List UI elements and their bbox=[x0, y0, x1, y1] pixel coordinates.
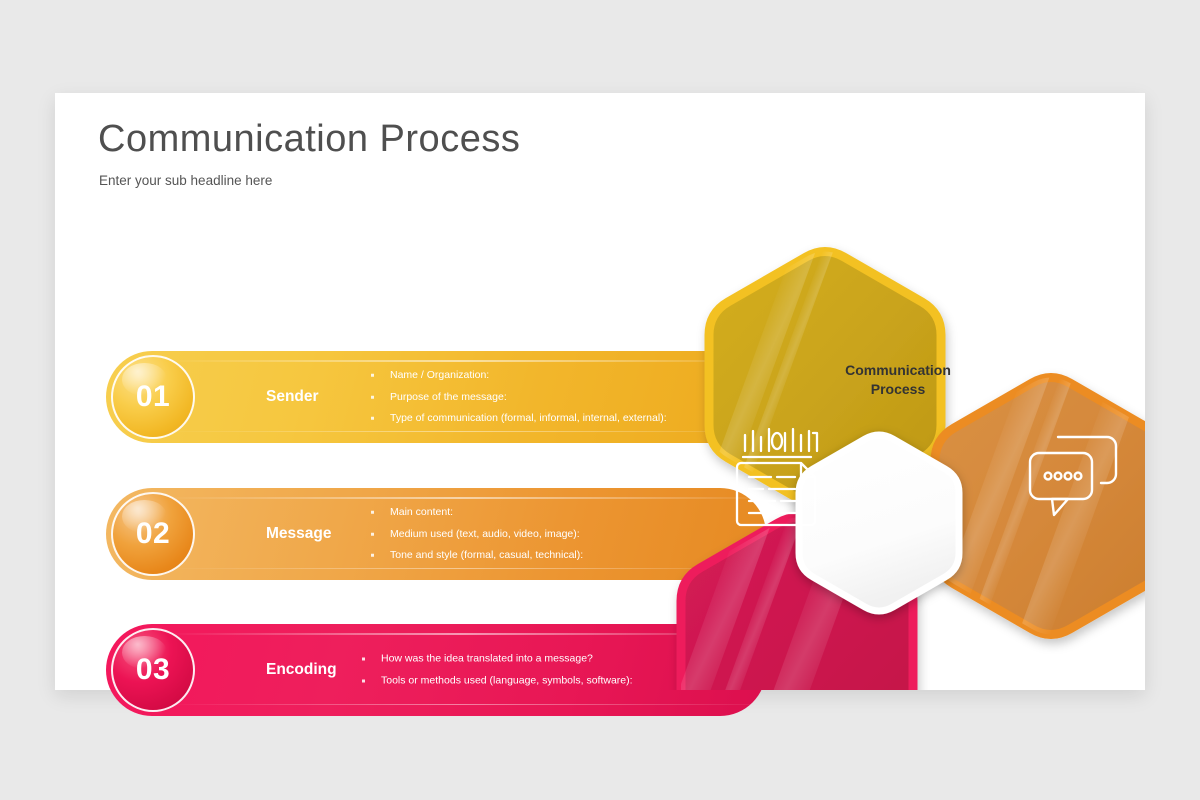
slide-canvas: Communication Process Enter your sub hea… bbox=[55, 93, 1145, 690]
step-number-badge-2[interactable]: 02 bbox=[111, 492, 195, 576]
page-subtitle: Enter your sub headline here bbox=[99, 173, 272, 188]
center-hexagon-label-line2: Process bbox=[823, 380, 973, 399]
laptop-profile-send-icon bbox=[746, 155, 831, 227]
bullet-item: Medium used (text, audio, video, image): bbox=[371, 523, 583, 545]
step-number-badge-1[interactable]: 01 bbox=[111, 355, 195, 439]
step-number-3: 03 bbox=[136, 653, 170, 687]
bullet-item: Purpose of the message: bbox=[371, 386, 667, 408]
bar-highlight-top bbox=[165, 360, 752, 362]
step-bullets-1: Name / Organization: Purpose of the mess… bbox=[371, 365, 667, 430]
bar-highlight-top bbox=[165, 633, 752, 635]
bullet-item: Main content: bbox=[371, 502, 583, 524]
bar-highlight-bottom bbox=[165, 431, 752, 433]
bullet-item: Tone and style (formal, casual, technica… bbox=[371, 545, 583, 567]
page-title: Communication Process bbox=[98, 118, 520, 161]
step-bar-3[interactable]: 03 Encoding How was the idea translated … bbox=[106, 624, 766, 716]
step-label-2: Message bbox=[266, 525, 331, 543]
center-hexagon-label-line1: Communication bbox=[823, 361, 973, 380]
step-label-3: Encoding bbox=[266, 661, 337, 679]
step-number-2: 02 bbox=[136, 517, 170, 551]
step-bar-1[interactable]: 01 Sender Name / Organization: Purpose o… bbox=[106, 351, 766, 443]
step-bar-2[interactable]: 02 Message Main content: Medium used (te… bbox=[106, 488, 766, 580]
center-hexagon-label: Communication Process bbox=[823, 361, 973, 399]
bullet-item: Type of communication (formal, informal,… bbox=[371, 408, 667, 430]
bar-highlight-top bbox=[165, 497, 752, 499]
hexagon-step-2 bbox=[924, 362, 1145, 654]
step-bullets-2: Main content: Medium used (text, audio, … bbox=[371, 502, 583, 567]
bullet-item: Name / Organization: bbox=[371, 365, 667, 387]
step-number-1: 01 bbox=[136, 380, 170, 414]
bullet-item: Tools or methods used (language, symbols… bbox=[362, 670, 633, 692]
step-number-badge-3[interactable]: 03 bbox=[111, 628, 195, 712]
center-hexagon bbox=[799, 435, 959, 611]
bar-highlight-bottom bbox=[165, 568, 752, 570]
bullet-item: How was the idea translated into a messa… bbox=[362, 649, 633, 671]
bar-highlight-bottom bbox=[165, 704, 752, 706]
chat-bubbles-icon bbox=[1030, 437, 1116, 515]
step-label-1: Sender bbox=[266, 388, 319, 406]
step-bullets-3: How was the idea translated into a messa… bbox=[362, 649, 633, 692]
